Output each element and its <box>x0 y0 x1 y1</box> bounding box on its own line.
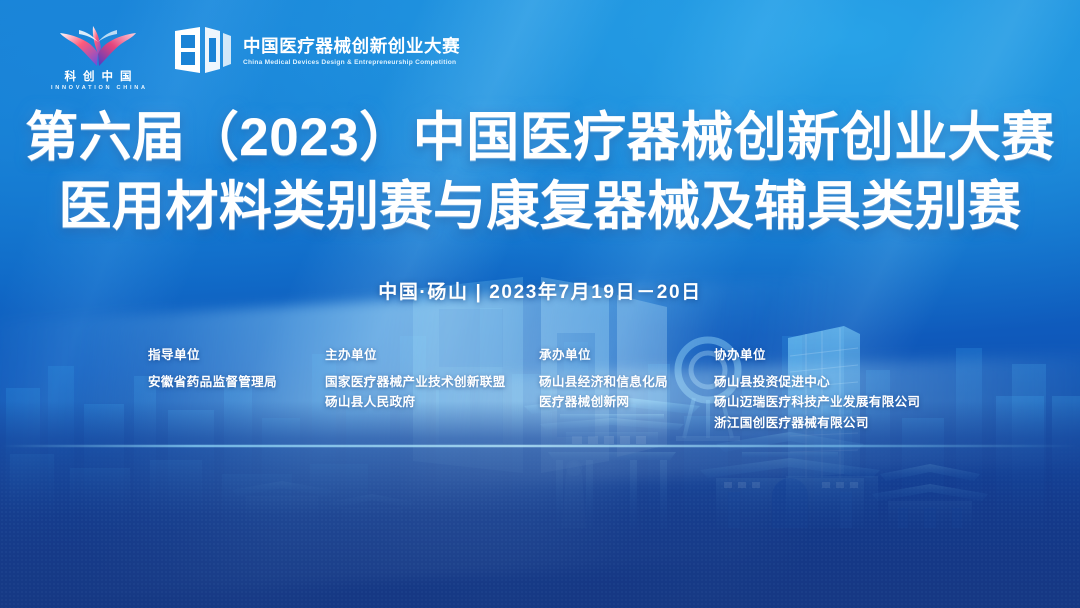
organizer-column-host: 主办单位 国家医疗器械产业技术创新联盟 砀山县人民政府 <box>325 344 539 433</box>
title-line-1: 第六届（2023）中国医疗器械创新创业大赛 <box>0 104 1080 173</box>
competition-logo-en: China Medical Devices Design & Entrepren… <box>243 59 460 67</box>
organizer-unit: 砀山县投资促进中心 <box>714 372 1014 392</box>
title-line-2: 医用材料类别赛与康复器械及辅具类别赛 <box>0 173 1080 242</box>
organizer-unit: 浙江国创医疗器械有限公司 <box>714 413 1014 433</box>
innovation-china-logo: 科创中国 INNOVATION CHINA <box>46 22 150 92</box>
organizer-column-guidance: 指导单位 安徽省药品监督管理局 <box>148 344 325 433</box>
organizer-role-label: 协办单位 <box>714 344 1014 363</box>
event-location-date: 中国·砀山 | 2023年7月19日－20日 <box>0 277 1080 304</box>
logo-bar: 科创中国 INNOVATION CHINA 中国医疗器械创新创业大赛 China… <box>46 22 460 92</box>
organizer-unit: 砀山迈瑞医疗科技产业发展有限公司 <box>714 392 1014 412</box>
page-title: 第六届（2023）中国医疗器械创新创业大赛 医用材料类别赛与康复器械及辅具类别赛 <box>0 104 1080 242</box>
organizer-column-coorganizer: 协办单位 砀山县投资促进中心 砀山迈瑞医疗科技产业发展有限公司 浙江国创医疗器械… <box>714 344 1014 433</box>
organizer-role-label: 指导单位 <box>148 344 325 363</box>
competition-logo-words: 中国医疗器械创新创业大赛 China Medical Devices Desig… <box>243 37 460 67</box>
phoenix-bird-icon <box>59 24 137 68</box>
organizer-column-organizer: 承办单位 砀山县经济和信息化局 医疗器械创新网 <box>539 344 714 433</box>
organizer-unit: 安徽省药品监督管理局 <box>148 372 325 392</box>
innovation-china-cn: 科创中国 <box>58 71 139 84</box>
organizer-unit: 国家医疗器械产业技术创新联盟 <box>325 372 539 392</box>
organizer-unit: 砀山县经济和信息化局 <box>539 372 714 392</box>
innovation-china-en: INNOVATION CHINA <box>48 84 147 92</box>
competition-logo-cn: 中国医疗器械创新创业大赛 <box>243 37 460 57</box>
organizer-unit: 砀山县人民政府 <box>325 392 539 412</box>
organizer-unit: 医疗器械创新网 <box>539 392 714 412</box>
open-door-icon <box>174 26 232 78</box>
competition-logo: 中国医疗器械创新创业大赛 China Medical Devices Desig… <box>174 22 460 78</box>
conference-banner: 科创中国 INNOVATION CHINA 中国医疗器械创新创业大赛 China… <box>0 0 1080 608</box>
organizer-columns: 指导单位 安徽省药品监督管理局 主办单位 国家医疗器械产业技术创新联盟 砀山县人… <box>148 344 1028 433</box>
dot-matrix-texture <box>0 438 1080 608</box>
organizer-role-label: 承办单位 <box>539 344 714 363</box>
organizer-role-label: 主办单位 <box>325 344 539 363</box>
